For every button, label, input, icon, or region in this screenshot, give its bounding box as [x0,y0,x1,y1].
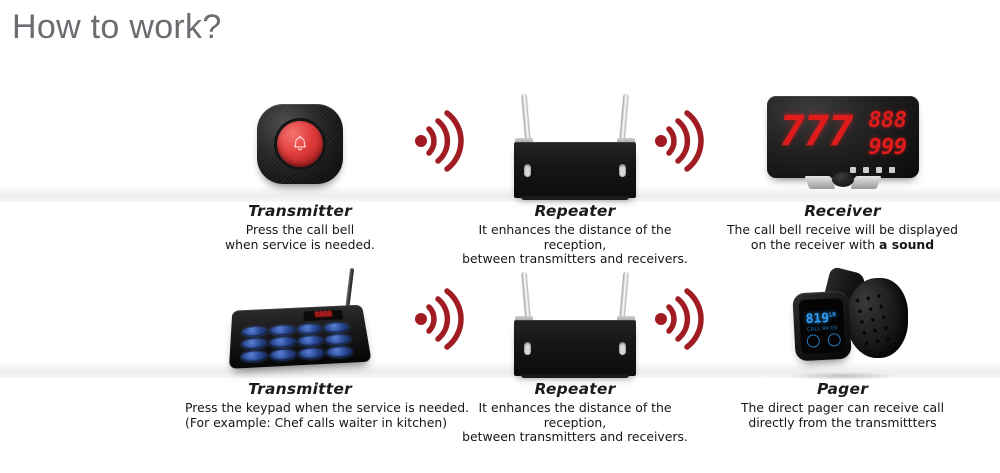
keypad-key[interactable] [242,327,267,337]
receiver-stand-leg-left [804,176,835,189]
repeater-mount-hole-right [619,164,626,177]
step-title: Repeater [450,202,700,221]
repeater-mount-hole-left [524,342,531,355]
how-to-work-infographic: How to work? [0,0,1000,473]
repeater-base [521,374,629,378]
repeater-body [511,94,639,198]
call-bell-transmitter-body [257,104,343,184]
step-description: The call bell receive will be displayed … [700,223,985,252]
keypad-led-display: 8888 [303,310,343,321]
step-transmitter-bell: Transmitter Press the call bell when ser… [185,90,415,272]
device-image-repeater [450,268,700,378]
step-title: Receiver [700,202,985,221]
receiver-stand-leg-right [850,176,881,189]
keypad-transmitter-body: 8888 [225,276,375,378]
device-image-call-bell-transmitter [185,90,415,200]
watch-time: 819LK [805,308,837,326]
keypad-key[interactable] [241,351,267,362]
receiver-stand-hub [832,172,854,187]
step-pager: 819LK CALL 99:05 Pager The direct pager … [700,268,985,450]
step-repeater: Repeater It enhances the distance of the… [450,268,700,450]
watch-shadow [786,372,898,380]
receiver-side-digits: 888 999 [868,107,906,161]
watch-time-value: 819 [805,311,829,327]
step-title: Pager [700,380,985,399]
receiver-stand [807,172,879,192]
page-title: How to work? [12,8,222,47]
keypad-key[interactable] [324,323,349,333]
keypad-key[interactable] [270,325,295,335]
receiver-side-digits-top: 888 [868,107,906,134]
repeater-case [514,142,636,198]
receiver-led [889,167,895,173]
keypad-key[interactable] [270,349,296,360]
watch-icon-bell [827,333,841,347]
repeater-mount-hole-right [619,342,626,355]
row-keypad-transmitter: 8888 [0,268,1000,450]
receiver-main-digits: 777 [780,110,853,152]
receiver-display-panel: 777 888 999 [767,96,919,178]
watch-icon-clock [806,334,820,348]
step-description: The direct pager can receive call direct… [700,401,985,430]
receiver-side-digits-bottom: 999 [868,134,906,161]
keypad-case: 8888 [229,305,372,369]
watch-subtext: CALL 99:05 [807,325,838,333]
watch-screen: 819LK CALL 99:05 [798,298,845,354]
call-bell-button[interactable] [277,121,323,167]
row-bell-transmitter: Transmitter Press the call bell when ser… [0,90,1000,272]
step-title: Transmitter [185,380,415,399]
keypad-keys[interactable] [241,323,353,362]
repeater-base [521,196,629,200]
step-description: It enhances the distance of the receptio… [450,401,700,445]
watch-time-suffix: LK [828,311,836,318]
keypad-key[interactable] [298,348,324,359]
repeater-mount-hole-left [524,164,531,177]
step-description: It enhances the distance of the receptio… [450,223,700,267]
keypad-key[interactable] [297,324,322,334]
device-image-keypad-transmitter: 8888 [185,268,415,378]
watch-strap-coil [846,278,908,358]
pager-watch-body: 819LK CALL 99:05 [768,270,918,378]
watch-screen-icons [806,333,841,348]
device-image-repeater [450,90,700,200]
step-repeater: Repeater It enhances the distance of the… [450,90,700,272]
step-receiver: 777 888 999 [700,90,985,272]
repeater-case [514,320,636,376]
keypad-key[interactable] [327,347,354,358]
keypad-key[interactable] [298,336,324,347]
step-description: Press the call bell when service is need… [185,223,415,252]
watch-case: 819LK CALL 99:05 [792,291,851,362]
keypad-key[interactable] [241,338,266,349]
device-image-pager-watch: 819LK CALL 99:05 [700,268,985,378]
step-title: Transmitter [185,202,415,221]
keypad-key[interactable] [270,337,295,348]
step-description: Press the keypad when the service is nee… [185,401,415,430]
step-transmitter-keypad: 8888 [185,268,415,450]
keypad-key[interactable] [325,334,351,345]
bell-icon [290,134,310,154]
step-title: Repeater [450,380,700,399]
device-image-led-receiver: 777 888 999 [700,90,985,200]
repeater-body [511,272,639,376]
step-description-emphasis: a sound [879,237,934,252]
led-receiver-body: 777 888 999 [767,96,919,196]
